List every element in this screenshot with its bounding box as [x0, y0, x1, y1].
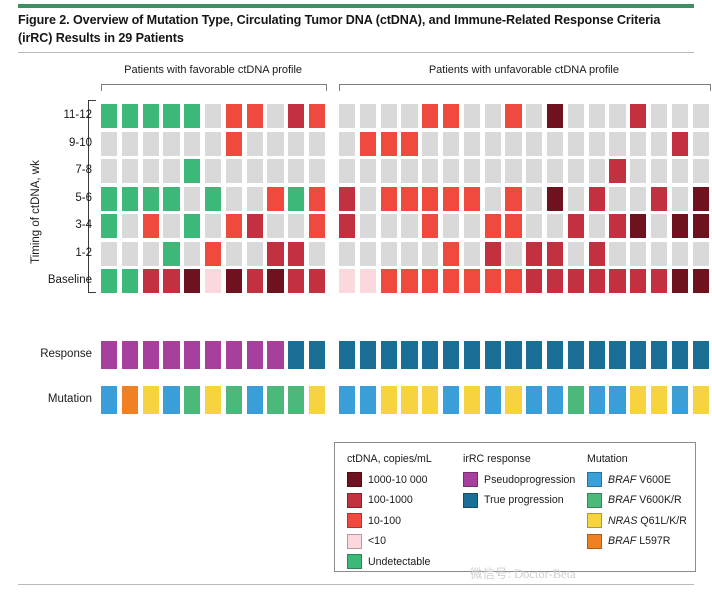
heatmap-cell — [101, 269, 117, 293]
legend-ctdna-swatch — [347, 493, 362, 508]
mutation-cell — [339, 386, 355, 414]
heatmap-cell — [226, 159, 242, 183]
response-cell — [122, 341, 138, 369]
legend-mutation-label: NRAS Q61L/K/R — [608, 515, 687, 527]
heatmap-cell — [672, 187, 688, 211]
heatmap-cell — [630, 214, 646, 238]
heatmap-cell — [360, 269, 376, 293]
heatmap-cell — [205, 214, 221, 238]
response-cell — [205, 341, 221, 369]
heatmap-cell — [526, 104, 542, 128]
heatmap-cell — [547, 159, 563, 183]
heatmap-cell — [547, 104, 563, 128]
mutation-cell — [381, 386, 397, 414]
heatmap-cell — [485, 214, 501, 238]
accent-rule — [18, 4, 694, 8]
bracket-favorable — [101, 84, 327, 91]
legend-box: ctDNA, copies/mL 1000-10 000100-100010-1… — [334, 442, 696, 572]
heatmap-cell — [288, 187, 304, 211]
legend-mutation-swatch — [587, 493, 602, 508]
heatmap-cell — [184, 159, 200, 183]
legend-heading-irrc: irRC response — [463, 453, 585, 465]
heatmap-cell — [589, 104, 605, 128]
heatmap-cell — [401, 242, 417, 266]
mutation-cell — [693, 386, 709, 414]
heatmap-cell — [143, 187, 159, 211]
heatmap-cell — [226, 132, 242, 156]
heatmap-cell — [464, 132, 480, 156]
heatmap-cell — [485, 187, 501, 211]
heatmap-cell — [339, 104, 355, 128]
heatmap-cell — [589, 159, 605, 183]
heatmap-cell — [630, 132, 646, 156]
heatmap-cell — [267, 269, 283, 293]
heatmap-cell — [464, 159, 480, 183]
response-cell — [485, 341, 501, 369]
mutation-cell — [184, 386, 200, 414]
heatmap-cell — [651, 242, 667, 266]
heatmap-cell — [526, 132, 542, 156]
mutation-cell — [401, 386, 417, 414]
legend-ctdna-label: Undetectable — [368, 556, 430, 568]
heatmap-cell — [547, 269, 563, 293]
mutation-cell — [422, 386, 438, 414]
heatmap-cell — [630, 242, 646, 266]
heatmap-cell — [693, 214, 709, 238]
mutation-cell — [226, 386, 242, 414]
heatmap-cell — [401, 269, 417, 293]
heatmap-cell — [672, 269, 688, 293]
mutation-cell — [443, 386, 459, 414]
heatmap-cell — [630, 269, 646, 293]
mutation-cell — [547, 386, 563, 414]
heatmap-cell — [309, 159, 325, 183]
heatmap-cell — [609, 187, 625, 211]
legend-irrc-item: True progression — [463, 493, 585, 508]
response-cell — [693, 341, 709, 369]
heatmap-cell — [226, 269, 242, 293]
heatmap-cell — [422, 187, 438, 211]
bracket-unfavorable — [339, 84, 711, 91]
heatmap-cell — [609, 104, 625, 128]
legend-irrc-swatch — [463, 472, 478, 487]
legend-ctdna-label: 10-100 — [368, 515, 401, 527]
heatmap-cell — [163, 269, 179, 293]
legend-mutation-item: BRAF L597R — [587, 534, 695, 549]
heatmap-cell — [101, 242, 117, 266]
heatmap-cell — [651, 187, 667, 211]
heatmap-cell — [205, 242, 221, 266]
heatmap-cell — [143, 214, 159, 238]
row-label-5-6: 5-6 — [0, 192, 92, 204]
heatmap-cell — [267, 214, 283, 238]
heatmap-cell — [122, 242, 138, 266]
legend-group-ctdna: ctDNA, copies/mL 1000-10 000100-100010-1… — [347, 453, 467, 575]
heatmap-cell — [568, 187, 584, 211]
watermark: 微信号: Doctor-Beta — [470, 563, 576, 582]
heatmap-cell — [443, 132, 459, 156]
response-cell — [505, 341, 521, 369]
heatmap-cell — [401, 187, 417, 211]
heatmap-cell — [339, 132, 355, 156]
heatmap-cell — [226, 187, 242, 211]
heatmap-cell — [381, 132, 397, 156]
heatmap-cell — [443, 159, 459, 183]
heatmap-cell — [184, 269, 200, 293]
mutation-cell — [672, 386, 688, 414]
heatmap-cell — [360, 104, 376, 128]
heatmap-cell — [247, 214, 263, 238]
mutation-row-label: Mutation — [0, 393, 92, 405]
legend-ctdna-item: 1000-10 000 — [347, 472, 467, 487]
response-cell — [339, 341, 355, 369]
heatmap-cell — [309, 269, 325, 293]
row-label-baseline: Baseline — [0, 274, 92, 286]
response-cell — [589, 341, 605, 369]
mutation-cell — [247, 386, 263, 414]
heatmap-cell — [485, 159, 501, 183]
heatmap-cell — [122, 187, 138, 211]
heatmap-cell — [247, 104, 263, 128]
group-label-unfavorable: Patients with unfavorable ctDNA profile — [339, 64, 709, 76]
heatmap-cell — [163, 159, 179, 183]
heatmap-cell — [184, 104, 200, 128]
heatmap-cell — [422, 269, 438, 293]
heatmap-cell — [163, 214, 179, 238]
legend-mutation-swatch — [587, 513, 602, 528]
heatmap-cell — [526, 269, 542, 293]
response-cell — [267, 341, 283, 369]
response-cell — [443, 341, 459, 369]
response-cell — [464, 341, 480, 369]
heatmap-cell — [422, 104, 438, 128]
heatmap-cell — [505, 242, 521, 266]
response-cell — [226, 341, 242, 369]
heatmap-cell — [443, 242, 459, 266]
heatmap-cell — [568, 159, 584, 183]
heatmap-cell — [401, 132, 417, 156]
heatmap-cell — [143, 132, 159, 156]
heatmap-cell — [651, 214, 667, 238]
mutation-cell — [309, 386, 325, 414]
legend-mutation-item: NRAS Q61L/K/R — [587, 513, 695, 528]
heatmap-cell — [693, 242, 709, 266]
mutation-cell — [122, 386, 138, 414]
legend-mutation-label: BRAF V600E — [608, 474, 671, 486]
heatmap-cell — [526, 214, 542, 238]
heatmap-cell — [672, 104, 688, 128]
heatmap-cell — [422, 214, 438, 238]
heatmap-cell — [443, 187, 459, 211]
mutation-cell — [360, 386, 376, 414]
heatmap-cell — [609, 242, 625, 266]
y-axis-title: Timing of ctDNA, wk — [30, 132, 42, 292]
heatmap-cell — [651, 269, 667, 293]
heatmap-cell — [267, 242, 283, 266]
heatmap-cell — [381, 269, 397, 293]
heatmap-cell — [609, 214, 625, 238]
response-cell — [630, 341, 646, 369]
heatmap-cell — [163, 132, 179, 156]
response-cell — [360, 341, 376, 369]
heatmap-cell — [226, 104, 242, 128]
mutation-cell — [505, 386, 521, 414]
heatmap-cell — [267, 187, 283, 211]
heatmap-cell — [672, 132, 688, 156]
legend-irrc-swatch — [463, 493, 478, 508]
response-cell — [184, 341, 200, 369]
heatmap-cell — [422, 242, 438, 266]
bottom-divider — [18, 584, 694, 585]
response-cell — [247, 341, 263, 369]
mutation-cell — [609, 386, 625, 414]
heatmap-cell — [401, 214, 417, 238]
heatmap-cell — [205, 132, 221, 156]
heatmap-cell — [247, 159, 263, 183]
row-label-11-12: 11-12 — [0, 109, 92, 121]
group-label-favorable: Patients with favorable ctDNA profile — [101, 64, 325, 76]
legend-irrc-label: True progression — [484, 494, 564, 506]
heatmap-cell — [464, 242, 480, 266]
legend-mutation-item: BRAF V600E — [587, 472, 695, 487]
heatmap-cell — [122, 159, 138, 183]
response-cell — [288, 341, 304, 369]
mutation-cell — [101, 386, 117, 414]
response-cell — [609, 341, 625, 369]
heatmap-cell — [443, 269, 459, 293]
response-cell — [672, 341, 688, 369]
heatmap-cell — [288, 159, 304, 183]
heatmap-cell — [485, 132, 501, 156]
heatmap-cell — [163, 104, 179, 128]
heatmap-cell — [693, 159, 709, 183]
heatmap-cell — [339, 242, 355, 266]
heatmap-cell — [672, 242, 688, 266]
heatmap-cell — [589, 214, 605, 238]
legend-group-mutation: Mutation BRAF V600EBRAF V600K/RNRAS Q61L… — [587, 453, 695, 554]
heatmap-cell — [526, 242, 542, 266]
heatmap-cell — [568, 242, 584, 266]
heatmap-cell — [309, 104, 325, 128]
heatmap-cell — [309, 187, 325, 211]
heatmap-cell — [309, 242, 325, 266]
heatmap-cell — [443, 214, 459, 238]
heatmap-cell — [693, 269, 709, 293]
heatmap-cell — [693, 187, 709, 211]
heatmap-cell — [101, 187, 117, 211]
legend-mutation-item: BRAF V600K/R — [587, 493, 695, 508]
heatmap-cell — [184, 187, 200, 211]
heatmap-cell — [143, 159, 159, 183]
response-cell — [651, 341, 667, 369]
heatmap-cell — [464, 269, 480, 293]
heatmap-cell — [360, 214, 376, 238]
heatmap-cell — [267, 159, 283, 183]
heatmap-cell — [568, 269, 584, 293]
heatmap-cell — [609, 269, 625, 293]
heatmap-cell — [360, 159, 376, 183]
mutation-cell — [630, 386, 646, 414]
heatmap-cell — [267, 104, 283, 128]
heatmap-cell — [589, 242, 605, 266]
heatmap-cell — [568, 104, 584, 128]
heatmap-cell — [339, 214, 355, 238]
heatmap-cell — [267, 132, 283, 156]
legend-ctdna-swatch — [347, 513, 362, 528]
heatmap-cell — [547, 214, 563, 238]
row-label-9-10: 9-10 — [0, 137, 92, 149]
legend-ctdna-item: <10 — [347, 534, 467, 549]
heatmap-cell — [464, 104, 480, 128]
heatmap-cell — [464, 214, 480, 238]
heatmap-cell — [339, 187, 355, 211]
heatmap-cell — [205, 104, 221, 128]
legend-mutation-swatch — [587, 472, 602, 487]
heatmap-cell — [651, 159, 667, 183]
heatmap-cell — [288, 132, 304, 156]
heatmap-cell — [101, 214, 117, 238]
mutation-cell — [589, 386, 605, 414]
heatmap-cell — [401, 159, 417, 183]
legend-ctdna-swatch — [347, 534, 362, 549]
heatmap-cell — [226, 242, 242, 266]
mutation-cell — [526, 386, 542, 414]
legend-mutation-swatch — [587, 534, 602, 549]
heatmap-cell — [122, 104, 138, 128]
heatmap-cell — [526, 187, 542, 211]
heatmap-cell — [547, 242, 563, 266]
heatmap-cell — [505, 132, 521, 156]
legend-ctdna-item: 10-100 — [347, 513, 467, 528]
heatmap-cell — [381, 214, 397, 238]
heatmap-cell — [485, 269, 501, 293]
row-label-3-4: 3-4 — [0, 219, 92, 231]
heatmap-cell — [589, 132, 605, 156]
heatmap-cell — [101, 132, 117, 156]
legend-mutation-label: BRAF V600K/R — [608, 494, 682, 506]
heatmap-cell — [101, 104, 117, 128]
heatmap-cell — [630, 187, 646, 211]
heatmap-cell — [422, 132, 438, 156]
heatmap-cell — [505, 104, 521, 128]
heatmap-cell — [651, 132, 667, 156]
heatmap-cell — [568, 132, 584, 156]
legend-ctdna-label: 100-1000 — [368, 494, 413, 506]
heatmap-cell — [547, 132, 563, 156]
mutation-cell — [143, 386, 159, 414]
heatmap-cell — [205, 187, 221, 211]
heatmap-cell — [609, 159, 625, 183]
heatmap-cell — [630, 104, 646, 128]
mutation-cell — [568, 386, 584, 414]
heatmap-cell — [381, 104, 397, 128]
heatmap-cell — [247, 269, 263, 293]
row-label-1-2: 1-2 — [0, 247, 92, 259]
heatmap-cell — [589, 187, 605, 211]
heatmap-cell — [381, 187, 397, 211]
legend-irrc-item: Pseudoprogression — [463, 472, 585, 487]
heatmap-cell — [143, 242, 159, 266]
response-cell — [309, 341, 325, 369]
heatmap-cell — [122, 269, 138, 293]
mutation-cell — [288, 386, 304, 414]
heatmap-cell — [184, 132, 200, 156]
heatmap-cell — [309, 214, 325, 238]
heatmap-cell — [505, 159, 521, 183]
heatmap-cell — [505, 214, 521, 238]
legend-ctdna-item: Undetectable — [347, 554, 467, 569]
heatmap-cell — [205, 159, 221, 183]
heatmap-cell — [101, 159, 117, 183]
heatmap-cell — [464, 187, 480, 211]
mutation-cell — [651, 386, 667, 414]
heatmap-cell — [122, 132, 138, 156]
heatmap-cell — [247, 187, 263, 211]
legend-heading-mutation: Mutation — [587, 453, 695, 465]
response-cell — [381, 341, 397, 369]
response-cell — [163, 341, 179, 369]
heatmap-cell — [526, 159, 542, 183]
heatmap-cell — [630, 159, 646, 183]
heatmap-cell — [122, 214, 138, 238]
heatmap-cell — [505, 269, 521, 293]
legend-mutation-label: BRAF L597R — [608, 535, 670, 547]
figure-title: Figure 2. Overview of Mutation Type, Cir… — [18, 11, 694, 48]
heatmap-cell — [288, 269, 304, 293]
heatmap-cell — [381, 159, 397, 183]
response-cell — [101, 341, 117, 369]
response-cell — [547, 341, 563, 369]
heatmap-cell — [443, 104, 459, 128]
heatmap-cell — [505, 187, 521, 211]
heatmap-cell — [184, 242, 200, 266]
legend-heading-ctdna: ctDNA, copies/mL — [347, 453, 467, 465]
heatmap-cell — [672, 159, 688, 183]
response-cell — [143, 341, 159, 369]
heatmap-cell — [693, 132, 709, 156]
heatmap-cell — [309, 132, 325, 156]
mutation-cell — [163, 386, 179, 414]
heatmap-cell — [360, 132, 376, 156]
heatmap-cell — [485, 104, 501, 128]
heatmap-cell — [568, 214, 584, 238]
title-divider — [18, 52, 694, 53]
heatmap-cell — [422, 159, 438, 183]
response-cell — [568, 341, 584, 369]
heatmap-cell — [288, 214, 304, 238]
heatmap-cell — [485, 242, 501, 266]
legend-ctdna-label: <10 — [368, 535, 386, 547]
heatmap-cell — [288, 104, 304, 128]
heatmap-cell — [339, 159, 355, 183]
legend-ctdna-label: 1000-10 000 — [368, 474, 428, 486]
heatmap-cell — [143, 104, 159, 128]
response-cell — [422, 341, 438, 369]
response-cell — [401, 341, 417, 369]
legend-ctdna-item: 100-1000 — [347, 493, 467, 508]
mutation-cell — [464, 386, 480, 414]
heatmap-cell — [205, 269, 221, 293]
heatmap-cell — [381, 242, 397, 266]
response-row-label: Response — [0, 348, 92, 360]
heatmap-cell — [226, 214, 242, 238]
heatmap-cell — [651, 104, 667, 128]
heatmap-cell — [401, 104, 417, 128]
legend-irrc-label: Pseudoprogression — [484, 474, 575, 486]
legend-group-irrc: irRC response PseudoprogressionTrue prog… — [463, 453, 585, 513]
mutation-cell — [267, 386, 283, 414]
heatmap-cell — [163, 242, 179, 266]
